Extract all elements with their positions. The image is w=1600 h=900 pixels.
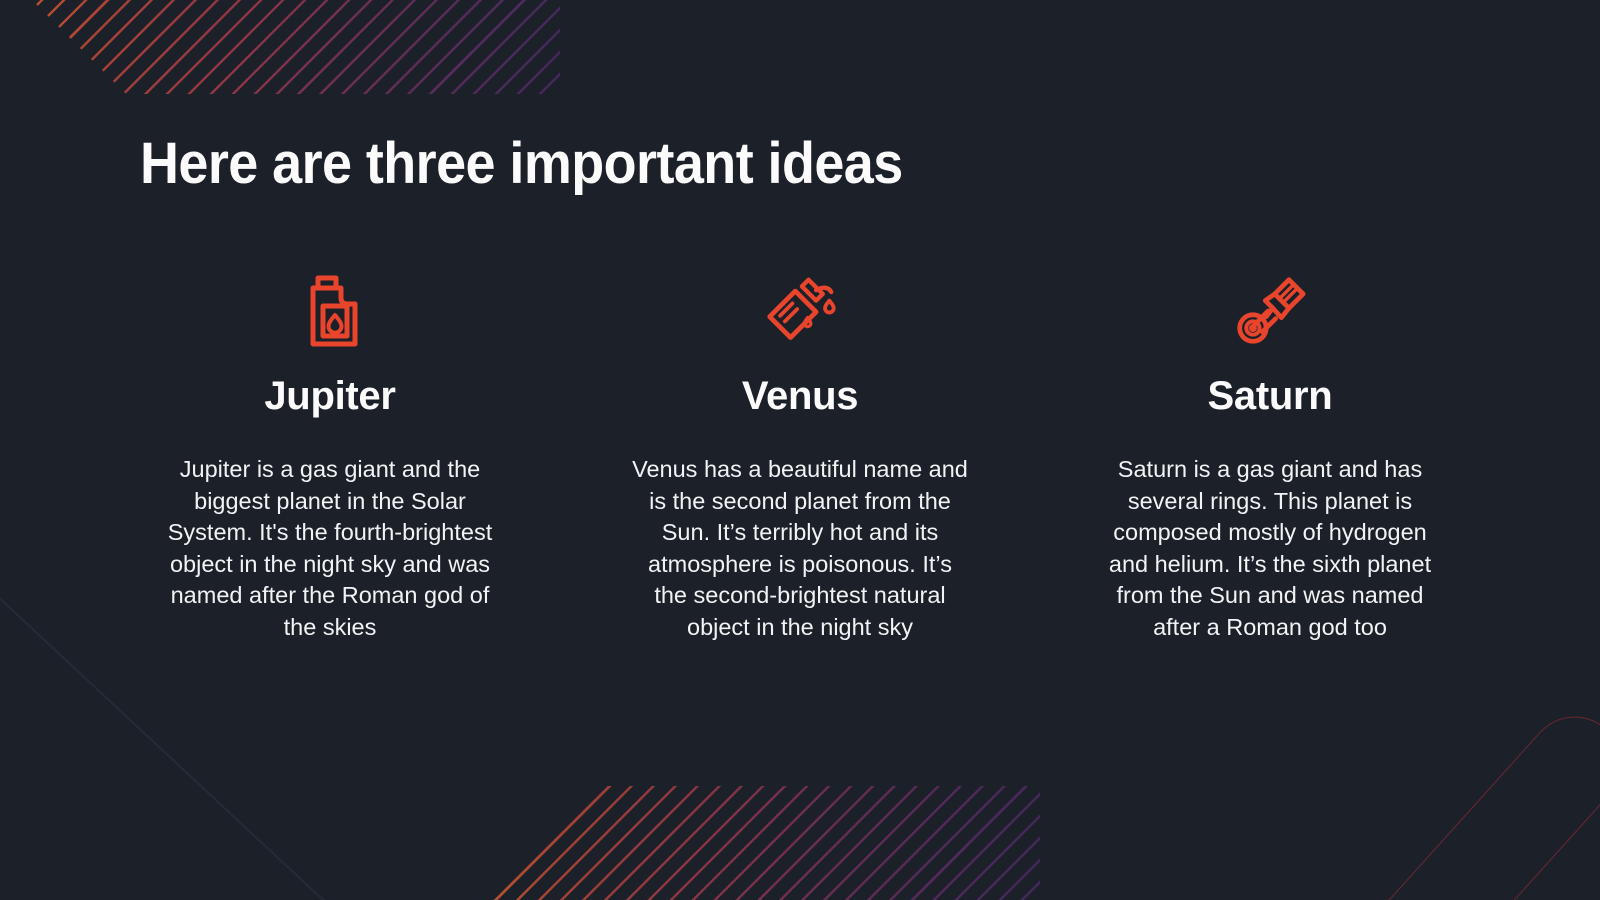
presentation-slide: Here are three important ideas Jupiter J… <box>0 0 1600 900</box>
pill-outline-shape <box>1349 697 1600 900</box>
page-title: Here are three important ideas <box>140 132 903 196</box>
idea-column-jupiter: Jupiter Jupiter is a gas giant and the b… <box>140 272 520 643</box>
oil-bottle-icon <box>294 272 366 350</box>
column-heading: Venus <box>742 374 858 418</box>
column-body-text: Jupiter is a gas giant and the biggest p… <box>155 454 505 643</box>
piston-icon <box>1234 272 1306 350</box>
idea-column-saturn: Saturn Saturn is a gas giant and has sev… <box>1080 272 1460 643</box>
diagonal-stripes-bottom <box>480 786 1040 900</box>
diagonal-stripes-top-left <box>0 0 560 94</box>
column-body-text: Venus has a beautiful name and is the se… <box>630 454 970 643</box>
column-heading: Saturn <box>1208 374 1333 418</box>
column-heading: Jupiter <box>264 374 395 418</box>
column-body-text: Saturn is a gas giant and has several ri… <box>1095 454 1445 643</box>
oil-can-icon <box>764 272 836 350</box>
idea-columns: Jupiter Jupiter is a gas giant and the b… <box>140 272 1460 643</box>
idea-column-venus: Venus Venus has a beautiful name and is … <box>610 272 990 643</box>
